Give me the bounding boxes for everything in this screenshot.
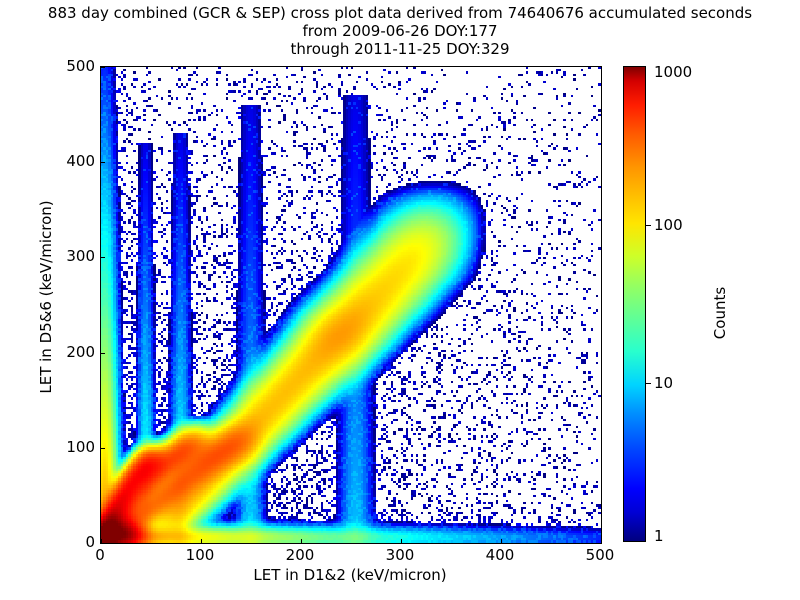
plot-axes — [100, 66, 602, 544]
y-tick-mark — [101, 67, 105, 68]
x-tick-mark — [501, 539, 502, 543]
y-tick-mark — [101, 162, 105, 163]
y-tick-label: 400 — [66, 152, 95, 170]
colorbar-tick-mark — [646, 225, 651, 226]
colorbar-tick-label: 1000 — [654, 63, 692, 81]
title-line-2: from 2009-06-26 DOY:177 — [0, 22, 800, 40]
x-tick-label: 200 — [286, 546, 315, 564]
x-tick-label: 100 — [186, 546, 215, 564]
colorbar-tick-mark — [646, 383, 651, 384]
y-tick-mark — [101, 353, 105, 354]
x-tick-mark — [301, 539, 302, 543]
x-tick-mark — [101, 539, 102, 543]
x-tick-label: 0 — [95, 546, 105, 564]
y-tick-label: 300 — [66, 247, 95, 265]
density-heatmap — [101, 67, 601, 543]
x-tick-mark — [601, 539, 602, 543]
x-axis-label: LET in D1&2 (keV/micron) — [100, 566, 600, 584]
figure-canvas: 883 day combined (GCR & SEP) cross plot … — [0, 0, 800, 600]
x-tick-label: 300 — [386, 546, 415, 564]
y-tick-label: 200 — [66, 343, 95, 361]
colorbar: 1101001000 — [623, 66, 646, 542]
x-tick-label: 400 — [486, 546, 515, 564]
colorbar-tick-label: 10 — [654, 374, 673, 392]
x-tick-mark — [201, 539, 202, 543]
colorbar-tick-label: 100 — [654, 216, 683, 234]
chart-title: 883 day combined (GCR & SEP) cross plot … — [0, 4, 800, 58]
y-tick-label: 100 — [66, 438, 95, 456]
title-line-1: 883 day combined (GCR & SEP) cross plot … — [0, 4, 800, 22]
y-tick-label: 0 — [85, 533, 95, 551]
y-tick-mark — [101, 448, 105, 449]
x-tick-mark — [401, 539, 402, 543]
colorbar-label: Counts — [711, 233, 729, 393]
y-tick-mark — [101, 257, 105, 258]
y-tick-label: 500 — [66, 57, 95, 75]
colorbar-tick-label: 1 — [654, 527, 664, 545]
x-axis-tick-labels: 0100200300400500 — [100, 546, 600, 566]
x-tick-label: 500 — [586, 546, 615, 564]
title-line-3: through 2011-11-25 DOY:329 — [0, 40, 800, 58]
y-axis-label: LET in D5&6 (keV/micron) — [37, 147, 55, 447]
colorbar-gradient — [623, 66, 646, 542]
y-tick-mark — [101, 543, 105, 544]
